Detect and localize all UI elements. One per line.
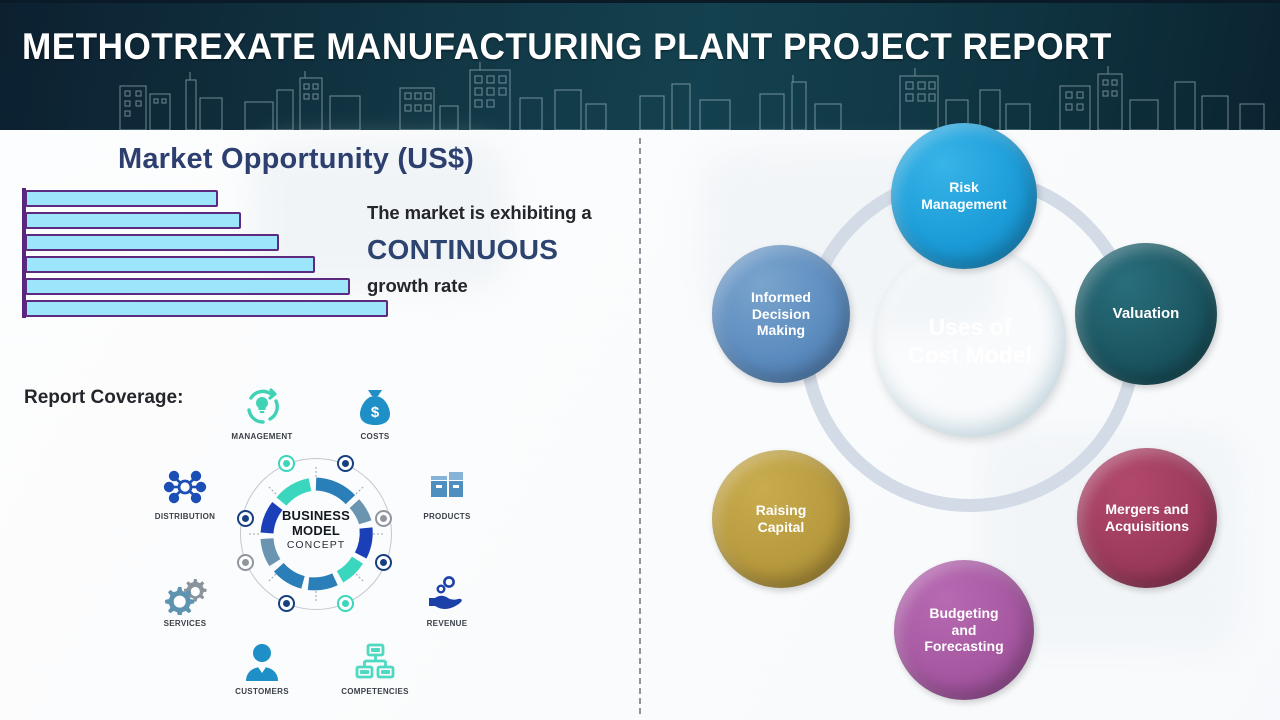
coverage-item-distribution[interactable]: DISTRIBUTION xyxy=(137,460,233,521)
money-bag-icon: $ xyxy=(327,380,423,428)
wheel-center-circle: Uses of Cost Model xyxy=(874,245,1066,437)
coverage-label: COSTS xyxy=(327,432,423,441)
wheel-center-line-2: Cost Model xyxy=(908,342,1032,368)
report-coverage-label: Report Coverage: xyxy=(24,387,183,409)
node-line-1: Mergers and xyxy=(1105,501,1188,517)
wheel-center-line-1: Uses of xyxy=(928,314,1011,340)
market-opportunity-title: Market Opportunity (US$) xyxy=(118,143,474,176)
node-line-3: Forecasting xyxy=(924,638,1003,654)
coverage-label: DISTRIBUTION xyxy=(137,512,233,521)
bmodel-node xyxy=(278,455,295,472)
panel-divider xyxy=(639,138,641,714)
chart-bar xyxy=(25,190,218,207)
user-person-icon xyxy=(214,635,310,683)
bmodel-line-2: MODEL xyxy=(232,523,400,538)
wheel-node-mergers-acquisitions[interactable]: Mergers and Acquisitions xyxy=(1077,448,1217,588)
bmodel-node xyxy=(337,595,354,612)
chart-bar xyxy=(25,300,388,317)
gears-icon xyxy=(137,567,233,615)
market-opportunity-bar-chart xyxy=(22,188,422,318)
node-line-1: Risk xyxy=(949,179,979,195)
wheel-node-informed-decision[interactable]: Informed Decision Making xyxy=(712,245,850,383)
package-box-icon xyxy=(399,460,495,508)
node-line-1: Budgeting xyxy=(929,605,998,621)
node-line-2: and xyxy=(952,622,977,638)
growth-emphasis: CONTINUOUS xyxy=(367,234,637,266)
wheel-node-risk-management[interactable]: Risk Management xyxy=(891,123,1037,269)
coverage-label: SERVICES xyxy=(137,619,233,628)
chart-bar xyxy=(25,212,241,229)
slide-body: Market Opportunity (US$) The market is e… xyxy=(0,130,1280,720)
node-line-2: Decision xyxy=(752,306,810,322)
bmodel-node xyxy=(337,455,354,472)
bmodel-node xyxy=(237,554,254,571)
business-model-diagram: BUSINESS MODEL CONCEPT xyxy=(232,450,400,618)
coverage-item-competencies[interactable]: COMPETENCIES xyxy=(327,635,423,696)
org-chart-icon xyxy=(327,635,423,683)
svg-text:$: $ xyxy=(371,404,380,421)
coverage-label: PRODUCTS xyxy=(399,512,495,521)
growth-line-3: growth rate xyxy=(367,275,637,297)
coverage-item-services[interactable]: SERVICES xyxy=(137,567,233,628)
wheel-node-budgeting-forecasting[interactable]: Budgeting and Forecasting xyxy=(894,560,1034,700)
chart-axis-line xyxy=(22,188,26,318)
bmodel-line-3: CONCEPT xyxy=(232,539,400,551)
coverage-label: CUSTOMERS xyxy=(214,687,310,696)
uses-of-cost-model-diagram: Uses of Cost Model Risk Management Valua… xyxy=(660,130,1280,720)
coverage-item-products[interactable]: PRODUCTS xyxy=(399,460,495,521)
coverage-item-customers[interactable]: CUSTOMERS xyxy=(214,635,310,696)
growth-line-1: The market is exhibiting a xyxy=(367,202,637,224)
chart-bar xyxy=(25,234,279,251)
node-line-1: Raising xyxy=(756,502,807,518)
node-line-1: Informed xyxy=(751,289,811,305)
page-title: METHOTREXATE MANUFACTURING PLANT PROJECT… xyxy=(22,26,1112,68)
coverage-item-revenue[interactable]: REVENUE xyxy=(399,567,495,628)
coverage-item-management[interactable]: MANAGEMENT xyxy=(214,380,310,441)
coverage-label: MANAGEMENT xyxy=(214,432,310,441)
growth-statement: The market is exhibiting a CONTINUOUS gr… xyxy=(367,202,637,297)
node-line-2: Acquisitions xyxy=(1105,518,1189,534)
header-top-rule xyxy=(0,0,1280,3)
node-line-2: Capital xyxy=(758,519,805,535)
network-nodes-icon xyxy=(137,460,233,508)
node-line-1: Valuation xyxy=(1113,305,1180,323)
coverage-label: COMPETENCIES xyxy=(327,687,423,696)
wheel-node-valuation[interactable]: Valuation xyxy=(1075,243,1217,385)
recycle-lightbulb-icon xyxy=(214,380,310,428)
bmodel-node xyxy=(375,554,392,571)
wheel-node-raising-capital[interactable]: Raising Capital xyxy=(712,450,850,588)
city-skyline-icon xyxy=(0,60,1280,130)
page-header: METHOTREXATE MANUFACTURING PLANT PROJECT… xyxy=(0,0,1280,130)
node-line-3: Making xyxy=(757,322,805,338)
chart-bar xyxy=(25,278,350,295)
coverage-item-costs[interactable]: $ COSTS xyxy=(327,380,423,441)
bmodel-center-label: BUSINESS MODEL CONCEPT xyxy=(232,508,400,551)
hand-coins-icon xyxy=(399,567,495,615)
coverage-label: REVENUE xyxy=(399,619,495,628)
node-line-2: Management xyxy=(921,196,1007,212)
bmodel-node xyxy=(278,595,295,612)
bmodel-line-1: BUSINESS xyxy=(232,508,400,523)
chart-bar xyxy=(25,256,315,273)
